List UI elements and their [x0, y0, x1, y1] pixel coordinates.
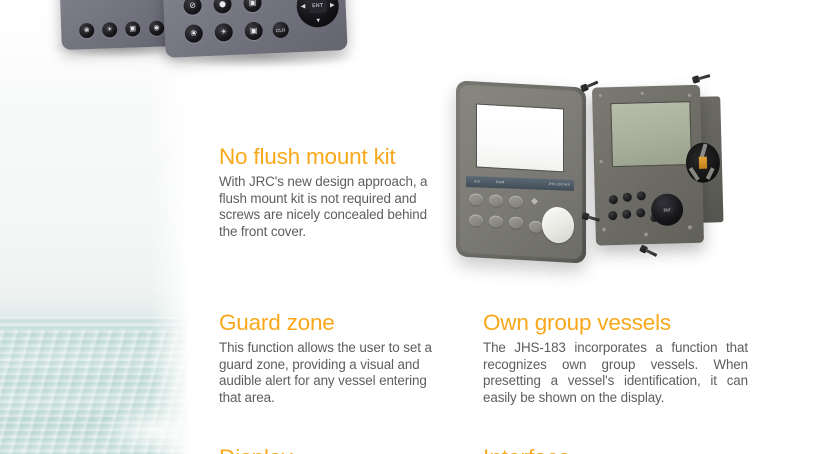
arrow-right-icon[interactable]: ▶	[330, 2, 335, 8]
device-b-button-r1c2[interactable]: ●	[213, 0, 232, 14]
mute-icon: ⊘	[183, 0, 202, 15]
device-a-button-3[interactable]: ▣	[125, 21, 141, 37]
device-b-button-r2c1[interactable]: ❀	[184, 24, 203, 43]
page-canvas: ❀ ☀ ▣ ◉ ⊘ ● ▣ ❀ ☀ ▣ CLR	[0, 0, 830, 454]
power-icon: ◉	[149, 20, 165, 36]
main-unit-lcd-display	[610, 101, 692, 167]
cover-button-2	[489, 194, 503, 207]
feature-heading: Guard zone	[219, 310, 449, 336]
display-icon: ▣	[125, 21, 141, 37]
device-a-button-1[interactable]: ❀	[79, 23, 95, 39]
cover-button-1	[469, 193, 483, 206]
unit-screw-bm	[644, 232, 649, 237]
unit-button-r1c2	[623, 193, 632, 202]
propeller-icon: ❀	[79, 23, 95, 39]
unit-enter-button: ENT	[661, 206, 673, 213]
cover-rotary-knob	[542, 206, 574, 244]
unit-screw-ml	[599, 159, 604, 164]
seascape-background-photo	[0, 0, 192, 454]
device-b-button-r2c3[interactable]: ▣	[244, 22, 263, 41]
cover-button-5	[489, 215, 503, 228]
device-b-button-r2c2[interactable]: ☀	[214, 23, 233, 42]
device-b-enter-button[interactable]: ENT	[309, 0, 327, 13]
cover-tag-pwr: PWR	[496, 180, 505, 184]
feature-heading: Own group vessels	[483, 310, 748, 336]
unit-button-r2c3	[636, 208, 645, 217]
device-a-button-4[interactable]: ◉	[149, 20, 165, 36]
device-b-clear-button[interactable]: CLR	[272, 22, 289, 39]
unit-screw-tm	[640, 91, 645, 96]
cover-button-3	[509, 195, 523, 208]
cover-model-label: JHS-183 AIS	[548, 181, 570, 186]
device-front-panel-b: ⊘ ● ▣ ❀ ☀ ▣ CLR ◀ ▶ ▼ ENT	[160, 0, 347, 58]
arrow-down-icon[interactable]: ▼	[315, 18, 321, 24]
device-front-panel-a: ❀ ☀ ▣ ◉	[58, 0, 180, 50]
front-cover-photo: AIS PWR JHS-183 AIS	[456, 80, 586, 263]
arrow-left-icon[interactable]: ◀	[301, 4, 306, 10]
front-cover-window	[476, 103, 564, 172]
feature-heading: No flush mount kit	[219, 144, 434, 170]
cover-button-4	[469, 214, 483, 227]
unit-screw-tr	[687, 93, 692, 98]
unit-button-r1c1	[609, 195, 618, 204]
feature-body: With JRC's new design approach, a flush …	[219, 174, 434, 240]
feature-own-group-vessels: Own group vessels The JHS-183 incorporat…	[483, 310, 748, 406]
unit-button-r2c2	[622, 210, 631, 219]
propeller-icon: ❀	[184, 24, 203, 43]
unit-screw-tl	[598, 93, 603, 98]
cover-button-7	[529, 220, 543, 233]
cut-off-heading-left: Display	[219, 445, 434, 454]
photo-right-fade	[150, 0, 192, 454]
display-icon: ▣	[243, 0, 262, 12]
device-a-button-2[interactable]: ☀	[102, 22, 118, 38]
brightness-icon: ☀	[214, 23, 233, 42]
disc-hub	[699, 157, 707, 169]
device-b-dpad[interactable]: ◀ ▶ ▼ ENT	[296, 0, 340, 28]
display-icon: ▣	[244, 22, 263, 41]
unit-dpad: ENT	[651, 193, 684, 226]
unit-button-r1c3	[637, 191, 646, 200]
device-a-button-1-label	[81, 40, 82, 44]
feature-body: The JHS-183 incorporates a function that…	[483, 340, 748, 406]
unit-screw-br	[688, 225, 693, 230]
device-b-button-r1c3[interactable]: ▣	[243, 0, 262, 12]
device-b-button-r1c1[interactable]: ⊘	[183, 0, 202, 15]
cover-button-6	[509, 216, 523, 229]
target-icon: ●	[213, 0, 232, 14]
feature-body: This function allows the user to set a g…	[219, 340, 449, 406]
main-unit-photo: ENT	[586, 80, 724, 251]
feature-no-flush-mount-kit: No flush mount kit With JRC's new design…	[219, 144, 434, 240]
cover-tag-ais: AIS	[474, 179, 480, 183]
cut-off-heading-right: Interface	[483, 445, 748, 454]
brightness-icon: ☀	[102, 22, 118, 38]
feature-guard-zone: Guard zone This function allows the user…	[219, 310, 449, 406]
unit-screw-bl	[602, 227, 607, 232]
disc-blade-3	[706, 167, 715, 180]
unit-button-r2c1	[608, 211, 617, 220]
